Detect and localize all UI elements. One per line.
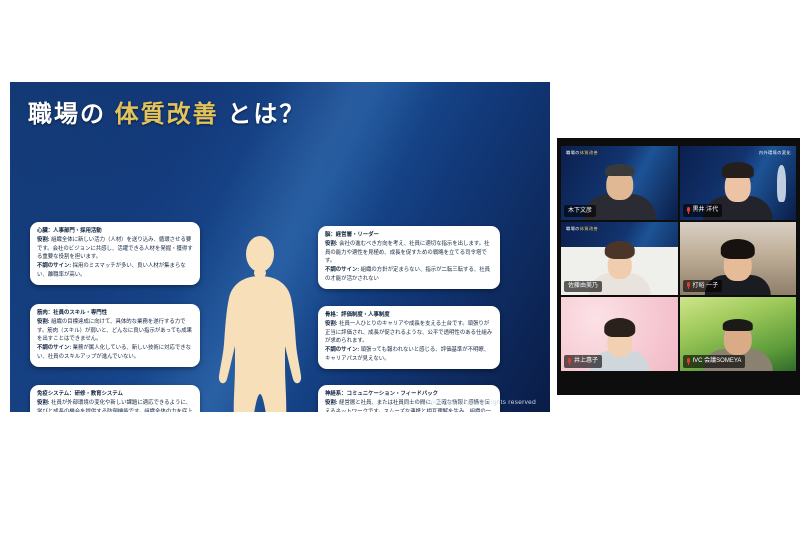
participant-tile[interactable]: 打峪 一子 [680, 222, 797, 296]
participant-tile[interactable]: 職場の体質改善 木下文彦 [561, 146, 678, 220]
vbg-title-plain: 内外環境の変化 [759, 150, 791, 155]
card-role-text: 組織の目標達成に向けて、具体的な業務を遂行する力です。筋肉（スキル）が弱いと、ど… [37, 319, 192, 342]
participant-grid: 職場の体質改善 木下文彦 内外環境の変化 [561, 146, 796, 371]
card-role-label: 役割: [325, 241, 338, 247]
card-sign: 不調のサイン: 採用のミスマッチが多い、良い人材が集まらない、離職率が高い。 [37, 262, 193, 279]
participant-tile[interactable]: 内外環境の変化 黒井 洋代 [680, 146, 797, 220]
card-role-text: 社員が外部環境の変化や新しい課題に適応できるように、学びと成長の機会を提供する防… [37, 400, 193, 412]
card-sign: 不調のサイン: 業務が属人化している、新しい技術に対応できない、社員のスキルアッ… [37, 344, 193, 361]
participant-name-badge: 打峪 一子 [683, 280, 723, 293]
info-card-skeleton: 骨格：評価制度・人事制度 役割: 社員一人ひとりのキャリアや成長を支える土台です… [318, 306, 500, 369]
participant-name: 井上惠子 [574, 358, 598, 364]
card-role-text: 社員一人ひとりのキャリアや成長を支える土台です。頑張りが正当に評価され、成長が促… [325, 321, 492, 344]
participant-tile[interactable]: IVC 会議SOMEYA [680, 297, 797, 371]
card-role: 役割: 社員が外部環境の変化や新しい課題に適応できるように、学びと成長の機会を提… [37, 399, 193, 412]
card-sign-label: 不調のサイン: [325, 267, 359, 273]
participant-name: 佐藤由美乃 [568, 283, 598, 289]
participant-name: 木下文彦 [568, 208, 592, 214]
participant-name: IVC 会議SOMEYA [693, 358, 742, 364]
vbg-title-plain: 職場の [566, 150, 580, 155]
title-part-2: とは？ [219, 101, 306, 128]
participant-name-badge: 佐藤由美乃 [564, 281, 602, 293]
card-heading: 免疫システム：研修・教育システム [37, 390, 193, 398]
card-sign: 不調のサイン: 頑張っても報われないと感じる、評価基準が不明瞭、キャリアパスが見… [325, 346, 493, 363]
card-role-label: 役割: [325, 400, 338, 406]
mic-muted-icon [687, 282, 691, 289]
info-card-immune-system: 免疫システム：研修・教育システム 役割: 社員が外部環境の変化や新しい課題に適応… [30, 385, 200, 412]
card-role-label: 役割: [325, 321, 338, 327]
participant-tile[interactable]: 井上惠子 [561, 297, 678, 371]
participant-name-badge: 黒井 洋代 [683, 204, 723, 217]
human-body-silhouette-icon [206, 234, 314, 412]
title-part-1: 職場の [28, 101, 115, 128]
presentation-slide: 職場の 体質改善 とは？ 心臓：人事部門・採用活動 役割: 組織全体に新しい活力… [10, 82, 550, 412]
mic-muted-icon [568, 358, 572, 365]
virtual-background-figure-icon [777, 165, 786, 202]
info-card-brain: 脳：経営層・リーダー 役割: 会社の進むべき方向を考え、社員に適切な指示を出しま… [318, 226, 500, 289]
card-role-label: 役割: [37, 319, 50, 325]
participant-name-badge: IVC 会議SOMEYA [683, 355, 746, 368]
video-conference-panel: 職場の体質改善 木下文彦 内外環境の変化 [557, 138, 800, 395]
info-card-muscle: 筋肉：社員のスキル・専門性 役割: 組織の目標達成に向けて、具体的な業務を遂行す… [30, 304, 200, 367]
virtual-background-title: 職場の体質改善 [566, 150, 598, 156]
mic-muted-icon [687, 207, 691, 214]
participant-name: 黒井 洋代 [693, 207, 719, 213]
participant-name: 打峪 一子 [693, 283, 719, 289]
card-role: 役割: 会社の進むべき方向を考え、社員に適切な指示を出します。社員の能力や適性を… [325, 240, 493, 266]
vbg-title-accent: 体質改善 [580, 226, 598, 231]
card-heading: 筋肉：社員のスキル・専門性 [37, 309, 193, 317]
participant-name-badge: 井上惠子 [564, 355, 602, 368]
mic-muted-icon [687, 358, 691, 365]
card-role-label: 役割: [37, 237, 50, 243]
title-highlight: 体質改善 [115, 101, 219, 128]
card-heading: 神経系：コミュニケーション・フィードバック [325, 390, 493, 398]
info-card-heart: 心臓：人事部門・採用活動 役割: 組織全体に新しい活力（人材）を送り込み、循環さ… [30, 222, 200, 285]
card-heading: 脳：経営層・リーダー [325, 231, 493, 239]
participant-name-badge: 木下文彦 [564, 205, 596, 217]
card-role-label: 役割: [37, 400, 50, 406]
copyright-footer: OnoOno Co.Ltd. All rights reserved [425, 399, 536, 406]
vbg-title-accent: 体質改善 [580, 150, 598, 155]
card-heading: 心臓：人事部門・採用活動 [37, 227, 193, 235]
vbg-title-plain: 職場の [566, 226, 580, 231]
card-sign: 不調のサイン: 組織の方針が定まらない、指示が二転三転する、社員の才能が活かされ… [325, 266, 493, 283]
virtual-background-title: 職場の体質改善 [566, 226, 598, 232]
card-sign-label: 不調のサイン: [37, 345, 71, 351]
screen: 職場の 体質改善 とは？ 心臓：人事部門・採用活動 役割: 組織全体に新しい活力… [0, 0, 800, 533]
card-heading: 骨格：評価制度・人事制度 [325, 311, 493, 319]
virtual-background-title: 内外環境の変化 [759, 150, 791, 156]
participant-tile[interactable]: 職場の体質改善 佐藤由美乃 [561, 222, 678, 296]
card-role: 役割: 組織全体に新しい活力（人材）を送り込み、循環させる要です。会社のビジョン… [37, 236, 193, 262]
card-role-text: 会社の進むべき方向を考え、社員に適切な指示を出します。社員の能力や適性を見極め、… [325, 241, 489, 264]
card-role: 役割: 社員一人ひとりのキャリアや成長を支える土台です。頑張りが正当に評価され、… [325, 320, 493, 346]
page-title: 職場の 体質改善 とは？ [28, 94, 305, 129]
card-role: 役割: 組織の目標達成に向けて、具体的な業務を遂行する力です。筋肉（スキル）が弱… [37, 318, 193, 344]
card-sign-label: 不調のサイン: [325, 347, 359, 353]
card-sign-label: 不調のサイン: [37, 263, 71, 269]
card-role-text: 組織全体に新しい活力（人材）を送り込み、循環させる要です。会社のビジョンに共感し… [37, 237, 193, 260]
